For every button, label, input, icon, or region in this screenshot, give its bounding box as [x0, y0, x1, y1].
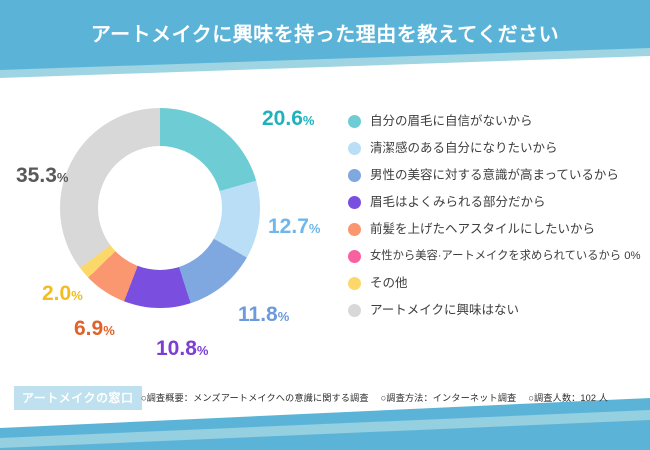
legend-item-label: アートメイクに興味はない [370, 304, 519, 318]
legend-item[interactable]: 女性から美容·アートメイクを求められているから 0% [348, 243, 644, 270]
slice-percent-value: 11.8 [238, 303, 278, 326]
legend-item-label: 眉毛はよくみられる部分だから [370, 196, 546, 210]
legend-item-label: 自分の眉毛に自信がないから [370, 115, 533, 129]
legend-item[interactable]: 眉毛はよくみられる部分だから [348, 189, 644, 216]
legend-item[interactable]: 男性の美容に対する意識が高まっているから [348, 162, 644, 189]
percent-symbol: % [71, 288, 83, 303]
legend-item[interactable]: 前髪を上げたヘアスタイルにしたいから [348, 216, 644, 243]
slice-percent-label: 6.9% [74, 318, 115, 339]
infographic-page: アートメイクに興味を持った理由を教えてください 20.6%12.7%11.8%1… [0, 0, 650, 450]
percent-symbol: % [57, 170, 69, 185]
slice-percent-value: 35.3 [16, 164, 57, 187]
survey-meta-item: ○調査人数：102 人 [528, 393, 608, 403]
slice-percent-label: 35.3% [16, 165, 68, 186]
legend-item[interactable]: アートメイクに興味はない [348, 297, 644, 324]
slice-percent-label: 11.8% [238, 304, 289, 325]
percent-symbol: % [278, 309, 290, 324]
survey-meta: ○調査概要：メンズアートメイクへの意識に関する調査○調査方法：インターネット調査… [141, 390, 620, 404]
legend-item-label: 女性から美容·アートメイクを求められているから 0% [370, 250, 641, 262]
legend-item-label: その他 [370, 277, 408, 291]
legend-color-dot-icon [348, 169, 361, 182]
legend-item[interactable]: 清潔感のある自分になりたいから [348, 135, 644, 162]
slice-percent-value: 2.0 [42, 282, 71, 305]
legend-item-label: 男性の美容に対する意識が高まっているから [370, 169, 619, 183]
percent-symbol: % [197, 343, 209, 358]
legend-item-label: 清潔感のある自分になりたいから [370, 142, 558, 156]
legend-color-dot-icon [348, 115, 361, 128]
slice-percent-value: 12.7 [268, 215, 309, 238]
percent-symbol: % [303, 113, 315, 128]
legend-color-dot-icon [348, 142, 361, 155]
slice-percent-label: 2.0% [42, 283, 83, 304]
donut-ring [60, 108, 260, 308]
slice-percent-label: 12.7% [268, 216, 320, 237]
slice-percent-label: 20.6% [262, 108, 314, 129]
survey-meta-item: ○調査方法：インターネット調査 [381, 393, 517, 403]
legend-color-dot-icon [348, 277, 361, 290]
slice-percent-value: 20.6 [262, 107, 303, 130]
legend-item[interactable]: 自分の眉毛に自信がないから [348, 108, 644, 135]
legend-item-label: 前髪を上げたヘアスタイルにしたいから [370, 223, 595, 237]
slice-percent-label: 10.8% [156, 338, 208, 359]
legend-color-dot-icon [348, 223, 361, 236]
site-logo-badge: アートメイクの窓口 [14, 386, 142, 410]
legend-color-dot-icon [348, 250, 361, 263]
donut-chart: 20.6%12.7%11.8%10.8%6.9%2.0%35.3% [12, 86, 342, 376]
page-title: アートメイクに興味を持った理由を教えてください [0, 18, 650, 47]
survey-meta-item: ○調査概要：メンズアートメイクへの意識に関する調査 [141, 393, 369, 403]
slice-percent-value: 6.9 [74, 317, 103, 340]
header-banner: アートメイクに興味を持った理由を教えてください [0, 0, 650, 78]
legend-color-dot-icon [348, 304, 361, 317]
percent-symbol: % [103, 323, 115, 338]
chart-legend: 自分の眉毛に自信がないから清潔感のある自分になりたいから男性の美容に対する意識が… [348, 108, 644, 324]
percent-symbol: % [309, 221, 321, 236]
legend-color-dot-icon [348, 196, 361, 209]
legend-item[interactable]: その他 [348, 270, 644, 297]
slice-percent-value: 10.8 [156, 337, 197, 360]
